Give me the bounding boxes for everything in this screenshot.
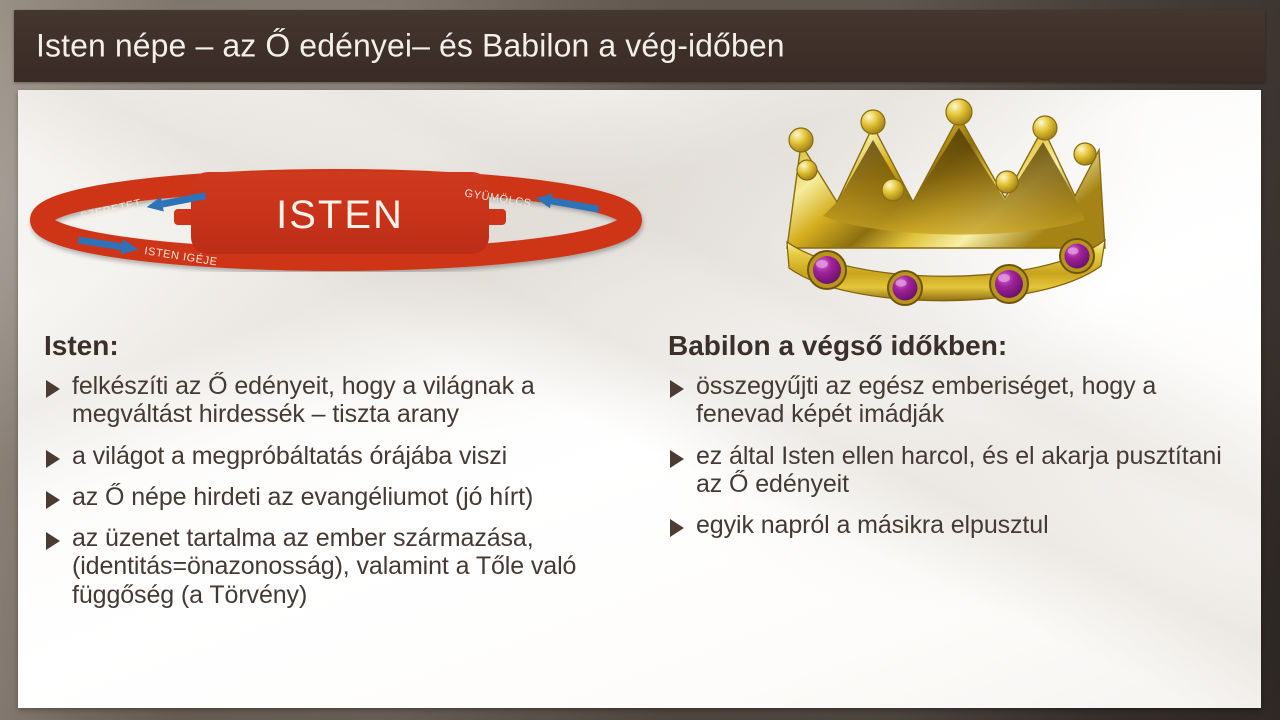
- right-column-heading: Babilon a végső időkben:: [668, 330, 1238, 362]
- list-item-text: az üzenet tartalma az ember származása, …: [72, 524, 576, 609]
- left-bullet-list: felkészíti az Ő edényeit, hogy a világna…: [44, 372, 624, 609]
- slide-stage: Isten népe – az Ő edényei– és Babilon a …: [0, 0, 1280, 720]
- right-bullet-list: összegyűjti az egész emberiséget, hogy a…: [668, 372, 1238, 539]
- triangle-bullet-icon: [670, 450, 684, 468]
- crown-gem: [990, 265, 1028, 303]
- triangle-bullet-icon: [46, 491, 60, 509]
- triangle-bullet-icon: [670, 380, 684, 398]
- crown-gem: [888, 271, 922, 305]
- isten-cycle-diagram: ISTEN SZERETET GYÜMÖLCS: [26, 152, 646, 272]
- list-item: az üzenet tartalma az ember származása, …: [44, 524, 624, 609]
- list-item: felkészíti az Ő edényeit, hogy a világna…: [44, 372, 624, 429]
- presentation-slide: Isten népe – az Ő edényei– és Babilon a …: [14, 10, 1265, 709]
- list-item-text: egyik napról a másikra elpusztul: [696, 511, 1049, 539]
- left-column-heading: Isten:: [44, 330, 624, 362]
- list-item-text: felkészíti az Ő edényeit, hogy a világna…: [72, 372, 535, 428]
- slide-title-bar: Isten népe – az Ő edényei– és Babilon a …: [14, 10, 1265, 82]
- list-item: ez által Isten ellen harcol, és el akarj…: [668, 442, 1238, 499]
- triangle-bullet-icon: [46, 532, 60, 550]
- list-item: az Ő népe hirdeti az evangéliumot (jó hí…: [44, 483, 624, 511]
- isten-center-box: ISTEN: [191, 172, 489, 254]
- isten-box-label: ISTEN: [276, 193, 404, 237]
- list-item: összegyűjti az egész emberiséget, hogy a…: [668, 372, 1238, 429]
- slide-body: ISTEN SZERETET GYÜMÖLCS: [18, 90, 1261, 708]
- list-item: egyik napról a másikra elpusztul: [668, 511, 1238, 539]
- list-item-text: az Ő népe hirdeti az evangéliumot (jó hí…: [72, 483, 533, 511]
- list-item-text: a világot a megpróbáltatás órájába viszi: [72, 442, 507, 470]
- list-item-text: összegyűjti az egész emberiséget, hogy a…: [696, 372, 1156, 428]
- triangle-bullet-icon: [670, 519, 684, 537]
- list-item-text: ez által Isten ellen harcol, és el akarj…: [696, 442, 1222, 498]
- left-text-column: Isten: felkészíti az Ő edényeit, hogy a …: [44, 330, 624, 622]
- page-title: Isten népe – az Ő edényei– és Babilon a …: [36, 28, 785, 65]
- triangle-bullet-icon: [46, 450, 60, 468]
- right-text-column: Babilon a végső időkben: összegyűjti az …: [668, 330, 1238, 552]
- crown-gem: [808, 251, 846, 289]
- list-item: a világot a megpróbáltatás órájába viszi: [44, 442, 624, 470]
- golden-crown-image: [763, 98, 1123, 318]
- triangle-bullet-icon: [46, 380, 60, 398]
- crown-gem: [1060, 239, 1094, 273]
